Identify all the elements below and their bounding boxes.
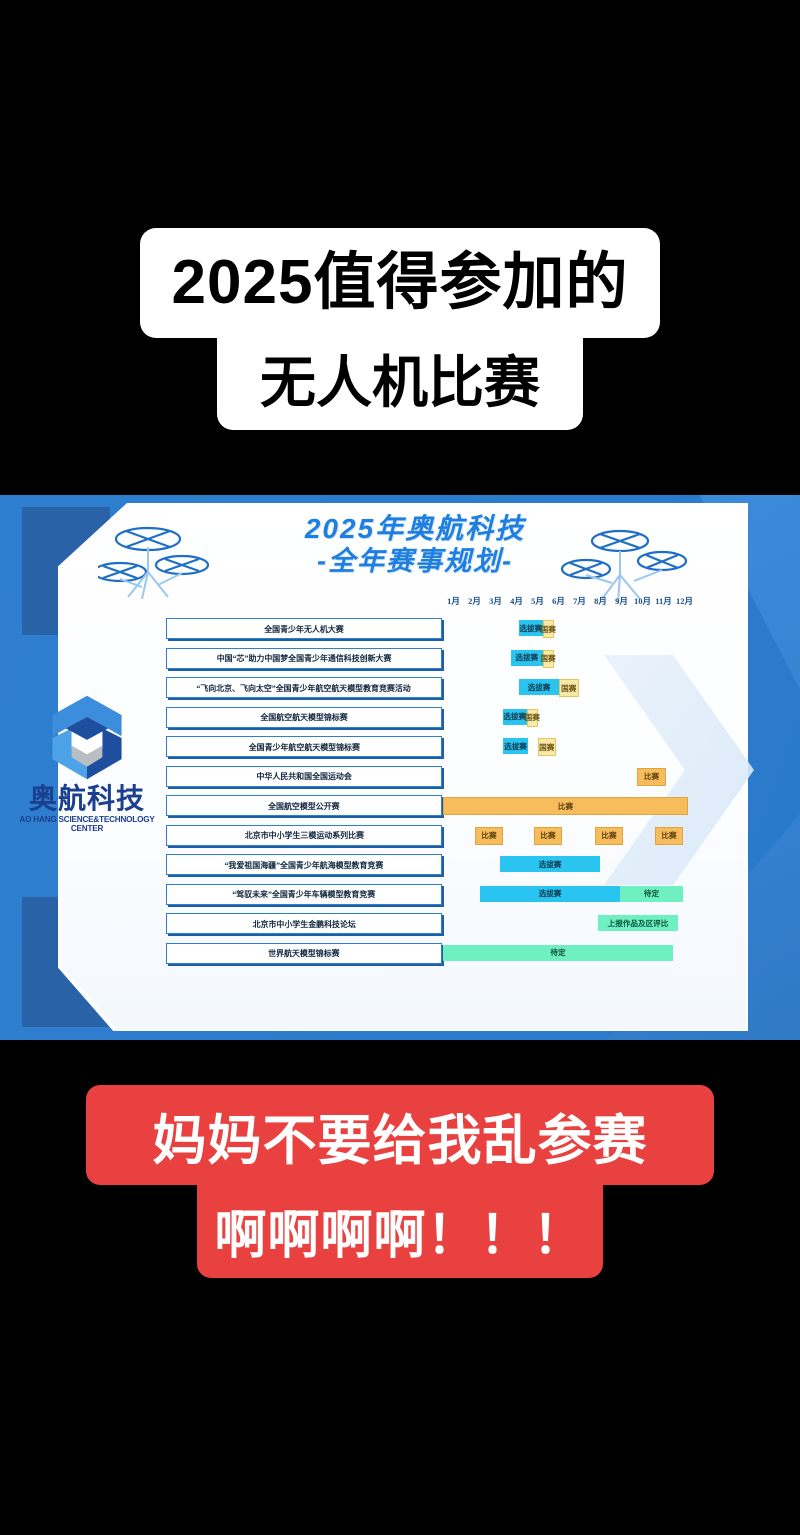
- timeline-bar: 比赛: [475, 827, 503, 845]
- month-label: 12月: [674, 595, 695, 611]
- event-name-label: “飞向北京、飞向太空”全国青少年航空航天模型教育竞赛活动: [197, 682, 411, 694]
- schedule-row: 中国“芯”助力中国梦全国青少年通信科技创新大赛选拔赛国赛: [0, 646, 800, 676]
- top-caption-line-2: 无人机比赛: [217, 336, 583, 430]
- top-caption-line-1: 2025值得参加的: [140, 228, 660, 338]
- timeline-bar: 国赛: [538, 738, 556, 756]
- month-label: 2月: [464, 595, 485, 611]
- timeline-track: 上报作品及区评比: [443, 911, 695, 941]
- event-name-label: 中国“芯”助力中国梦全国青少年通信科技创新大赛: [217, 652, 392, 664]
- timeline-track: 选拔赛国赛: [443, 675, 695, 705]
- month-label: 5月: [527, 595, 548, 611]
- timeline-track: 选拔赛: [443, 852, 695, 882]
- month-axis: 1月 2月 3月 4月 5月 6月 7月 8月 9月 10月 11月 12月: [443, 595, 695, 611]
- event-name-box: “驾驭未来”全国青少年车辆模型教育竞赛: [166, 884, 442, 905]
- event-name-box: 北京市中小学生三模运动系列比赛: [166, 825, 442, 846]
- top-caption-block: 2025值得参加的 无人机比赛: [0, 228, 800, 430]
- drone-icon-left-1: [98, 517, 218, 612]
- event-name-label: 世界航天模型锦标赛: [268, 947, 339, 959]
- bottom-caption-block: 妈妈不要给我乱参赛 啊啊啊啊！！！: [0, 1085, 800, 1278]
- month-label: 1月: [443, 595, 464, 611]
- schedule-row: “驾驭未来”全国青少年车辆模型教育竞赛选拔赛待定: [0, 882, 800, 912]
- timeline-bar: 比赛: [534, 827, 562, 845]
- month-label: 6月: [548, 595, 569, 611]
- timeline-bar: 国赛: [543, 620, 555, 638]
- timeline-track: 待定: [443, 941, 695, 971]
- timeline-bar: 比赛: [595, 827, 623, 845]
- timeline-bar: 待定: [443, 945, 673, 961]
- bottom-caption-line-1: 妈妈不要给我乱参赛: [86, 1085, 714, 1185]
- month-label: 3月: [485, 595, 506, 611]
- timeline-track: 选拔赛国赛: [443, 734, 695, 764]
- month-label: 9月: [611, 595, 632, 611]
- schedule-row: 北京市中小学生金鹏科技论坛上报作品及区评比: [0, 911, 800, 941]
- schedule-row: 全国青少年无人机大赛选拔赛国赛: [0, 616, 800, 646]
- timeline-track: 选拔赛国赛: [443, 705, 695, 735]
- timeline-track: 选拔赛待定: [443, 882, 695, 912]
- timeline-bar: 选拔赛: [480, 886, 620, 902]
- month-label: 10月: [632, 595, 653, 611]
- timeline-track: 选拔赛国赛: [443, 646, 695, 676]
- timeline-bar: 国赛: [543, 650, 554, 668]
- event-name-label: 北京市中小学生金鹏科技论坛: [252, 918, 355, 930]
- timeline-bar: 上报作品及区评比: [598, 915, 678, 931]
- timeline-bar: 选拔赛: [519, 620, 543, 636]
- schedule-row: 世界航天模型锦标赛待定: [0, 941, 800, 971]
- month-label: 4月: [506, 595, 527, 611]
- company-logo: 奥航科技 AO HANG SCIENCE&TECHNOLOGY CENTER: [8, 690, 166, 840]
- month-label: 11月: [653, 595, 674, 611]
- timeline-bar: 选拔赛: [503, 709, 527, 725]
- event-name-label: “我爱祖国海疆”全国青少年航海模型教育竞赛: [225, 859, 384, 871]
- logo-company-name: 奥航科技: [8, 785, 166, 813]
- event-name-box: “我爱祖国海疆”全国青少年航海模型教育竞赛: [166, 854, 442, 875]
- timeline-bar: 国赛: [527, 709, 539, 727]
- timeline-track: 比赛: [443, 764, 695, 794]
- event-name-label: 全国青少年航空航天模型锦标赛: [248, 741, 359, 753]
- month-label: 7月: [569, 595, 590, 611]
- event-name-box: “飞向北京、飞向太空”全国青少年航空航天模型教育竞赛活动: [166, 677, 442, 698]
- event-name-label: 北京市中小学生三模运动系列比赛: [244, 829, 363, 841]
- bottom-caption-line-2: 啊啊啊啊！！！: [197, 1183, 603, 1278]
- event-name-box: 全国青少年无人机大赛: [166, 618, 442, 639]
- event-name-box: 世界航天模型锦标赛: [166, 943, 442, 964]
- poster-title-line-1: 2025年奥航科技: [250, 513, 580, 545]
- timeline-bar: 选拔赛: [500, 856, 600, 872]
- timeline-track: 选拔赛国赛: [443, 616, 695, 646]
- month-label: 8月: [590, 595, 611, 611]
- timeline-track: 比赛: [443, 793, 695, 823]
- event-name-label: 全国航空模型公开赛: [268, 800, 339, 812]
- timeline-bar: 选拔赛: [511, 650, 543, 666]
- event-name-label: 全国航空航天模型锦标赛: [260, 711, 347, 723]
- poster-title-line-2: -全年赛事规划-: [250, 545, 580, 577]
- event-name-box: 中华人民共和国全国运动会: [166, 766, 442, 787]
- timeline-track: 比赛比赛比赛比赛: [443, 823, 695, 853]
- timeline-bar: 国赛: [559, 679, 579, 697]
- event-name-label: 全国青少年无人机大赛: [264, 623, 343, 635]
- timeline-bar: 选拔赛: [503, 738, 528, 754]
- event-name-label: “驾驭未来”全国青少年车辆模型教育竞赛: [233, 888, 376, 900]
- event-name-box: 北京市中小学生金鹏科技论坛: [166, 913, 442, 934]
- event-name-box: 全国青少年航空航天模型锦标赛: [166, 736, 442, 757]
- hexagon-logo-icon: [39, 690, 135, 786]
- schedule-row: “我爱祖国海疆”全国青少年航海模型教育竞赛选拔赛: [0, 852, 800, 882]
- event-name-box: 全国航空模型公开赛: [166, 795, 442, 816]
- timeline-bar: 待定: [620, 886, 683, 902]
- timeline-bar: 比赛: [443, 797, 688, 815]
- timeline-bar: 比赛: [637, 768, 666, 786]
- poster-title: 2025年奥航科技 -全年赛事规划-: [250, 513, 580, 578]
- timeline-bar: 选拔赛: [519, 679, 559, 695]
- event-name-box: 全国航空航天模型锦标赛: [166, 707, 442, 728]
- logo-company-subtitle: AO HANG SCIENCE&TECHNOLOGY CENTER: [6, 815, 167, 833]
- timeline-bar: 比赛: [655, 827, 683, 845]
- event-name-box: 中国“芯”助力中国梦全国青少年通信科技创新大赛: [166, 648, 442, 669]
- event-name-label: 中华人民共和国全国运动会: [256, 770, 351, 782]
